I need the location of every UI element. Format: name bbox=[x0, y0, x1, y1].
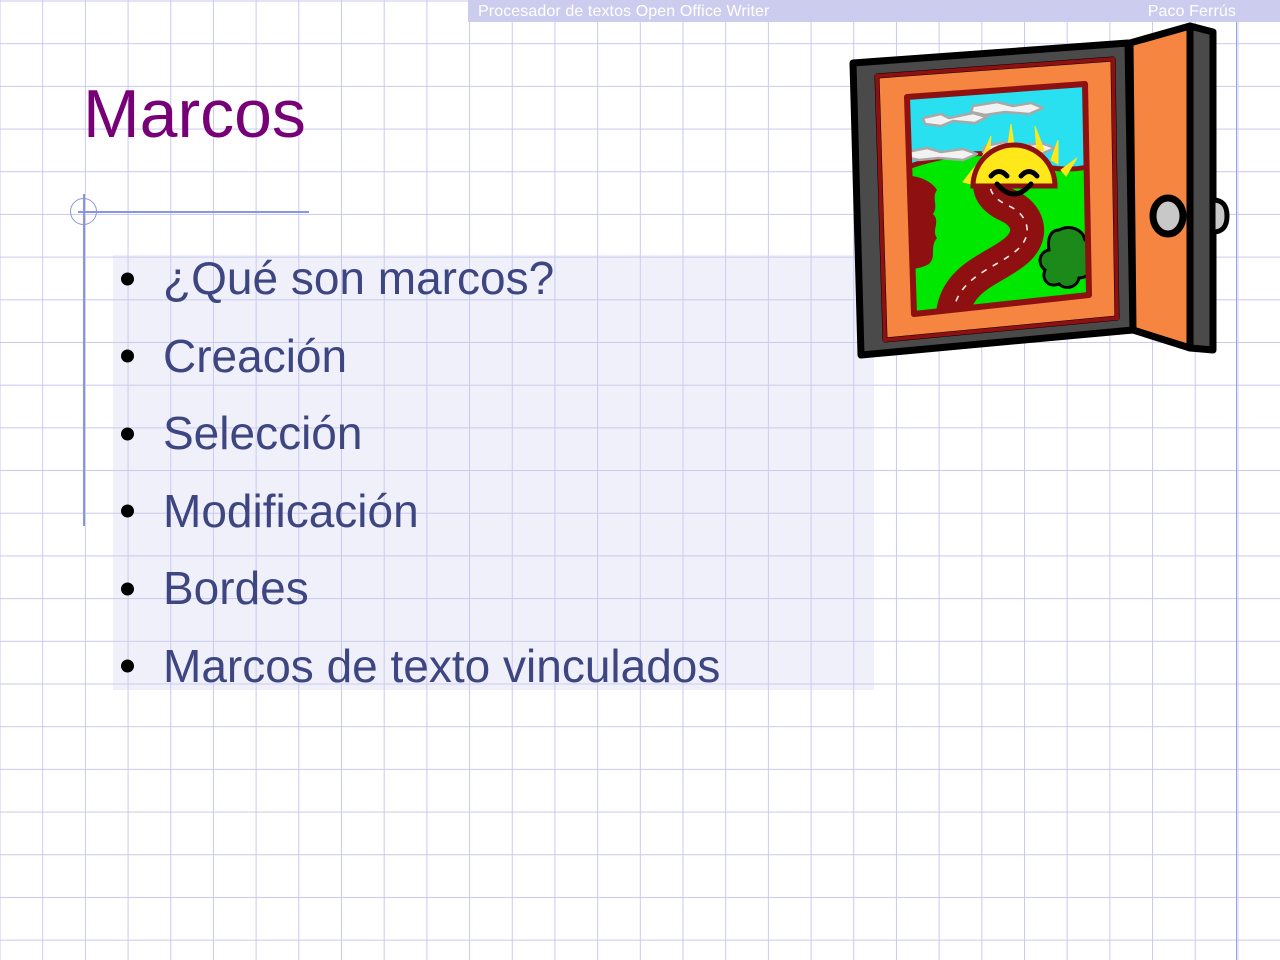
bullet-dot-icon bbox=[121, 427, 134, 440]
list-item: Marcos de texto vinculados bbox=[113, 628, 893, 706]
list-item: Modificación bbox=[113, 473, 893, 551]
horizontal-rule-icon bbox=[78, 211, 309, 213]
circle-outline-icon bbox=[70, 198, 97, 225]
bullet-dot-icon bbox=[121, 272, 134, 285]
list-item-label: ¿Qué son marcos? bbox=[163, 252, 554, 304]
bullet-dot-icon bbox=[121, 582, 134, 595]
list-item: Bordes bbox=[113, 550, 893, 628]
slide-title: Marcos bbox=[83, 74, 306, 154]
list-item: Creación bbox=[113, 318, 893, 396]
list-item-label: Creación bbox=[163, 330, 347, 382]
bullet-dot-icon bbox=[121, 660, 134, 673]
presentation-slide: Procesador de textos Open Office Writer … bbox=[0, 0, 1280, 960]
bullet-dot-icon bbox=[121, 350, 134, 363]
list-item-label: Modificación bbox=[163, 485, 419, 537]
list-item: Selección bbox=[113, 395, 893, 473]
list-item-label: Marcos de texto vinculados bbox=[163, 640, 720, 692]
bullet-dot-icon bbox=[121, 505, 134, 518]
list-item-label: Bordes bbox=[163, 562, 309, 614]
bullet-list: ¿Qué son marcos? Creación Selección Modi… bbox=[113, 240, 893, 705]
vertical-rule-icon bbox=[83, 194, 85, 526]
list-item-label: Selección bbox=[163, 407, 362, 459]
header-course-title: Procesador de textos Open Office Writer bbox=[478, 1, 769, 22]
open-door-window-clipart bbox=[845, 18, 1240, 368]
list-item: ¿Qué son marcos? bbox=[113, 240, 893, 318]
